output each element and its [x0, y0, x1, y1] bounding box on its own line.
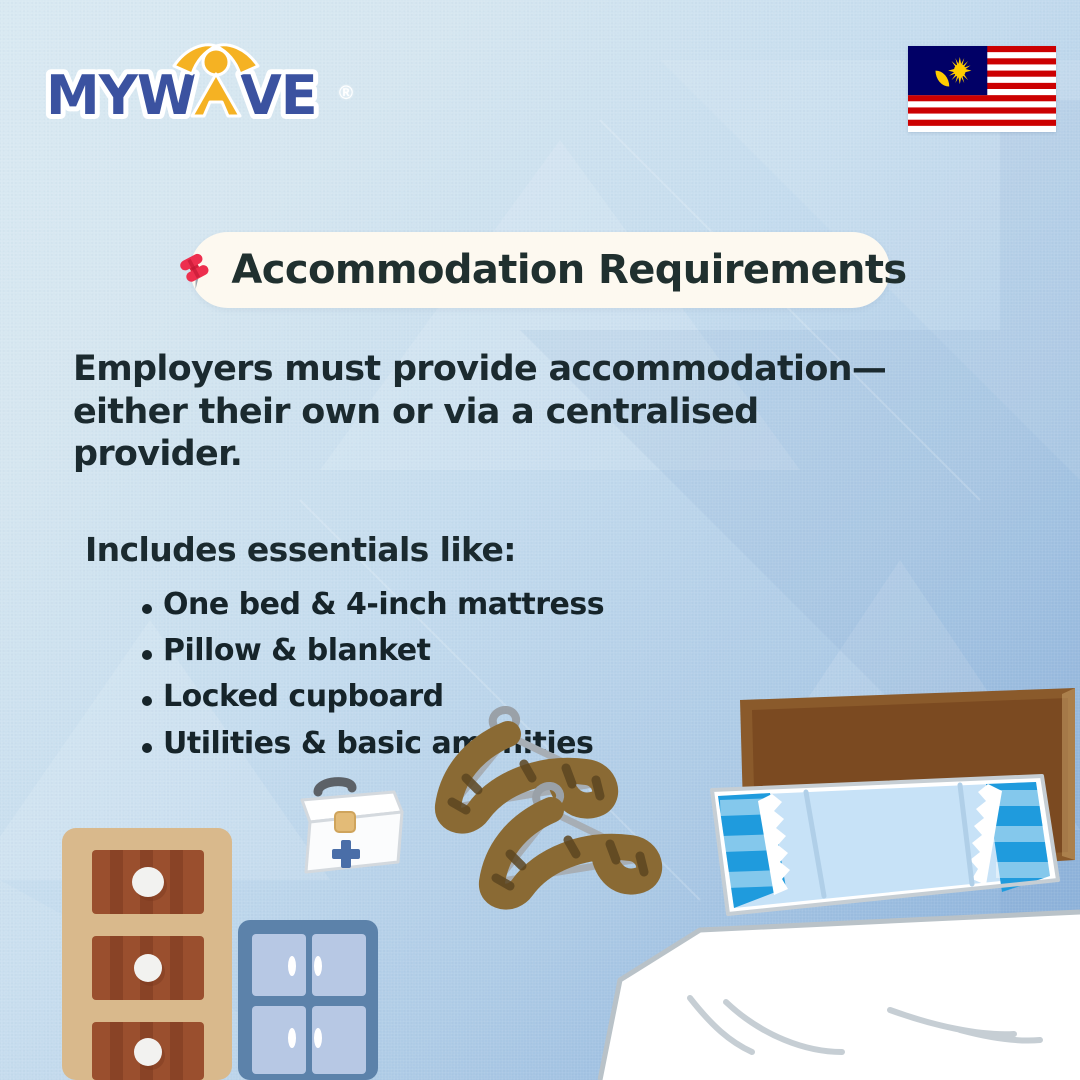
bed-illustration — [600, 688, 1080, 1080]
registered-trademark-icon: ® — [339, 84, 353, 103]
list-item: One bed & 4-inch mattress — [73, 586, 953, 624]
list-item: Pillow & blanket — [73, 632, 953, 670]
poster-canvas: MYW VE MYW VE ® — [0, 0, 1080, 1080]
mywave-logo: MYW VE MYW VE ® — [44, 40, 374, 126]
malaysia-flag-icon — [908, 46, 1056, 132]
first-aid-kit-illustration — [302, 782, 402, 872]
lead-paragraph: Employers must provide accommodation—eit… — [73, 348, 923, 476]
pushpin-icon — [173, 247, 217, 291]
essentials-subheading: Includes essentials like: — [85, 530, 953, 570]
svg-text:MYW: MYW — [46, 64, 195, 126]
bedroom-illustration — [0, 680, 1080, 1080]
wooden-dresser-illustration — [62, 828, 232, 1080]
blue-cabinet-illustration — [238, 920, 378, 1080]
title-banner: Accommodation Requirements — [190, 232, 890, 308]
page-title: Accommodation Requirements — [231, 247, 906, 293]
svg-text:VE: VE — [240, 64, 317, 126]
clothes-hanger-illustration — [448, 710, 649, 897]
